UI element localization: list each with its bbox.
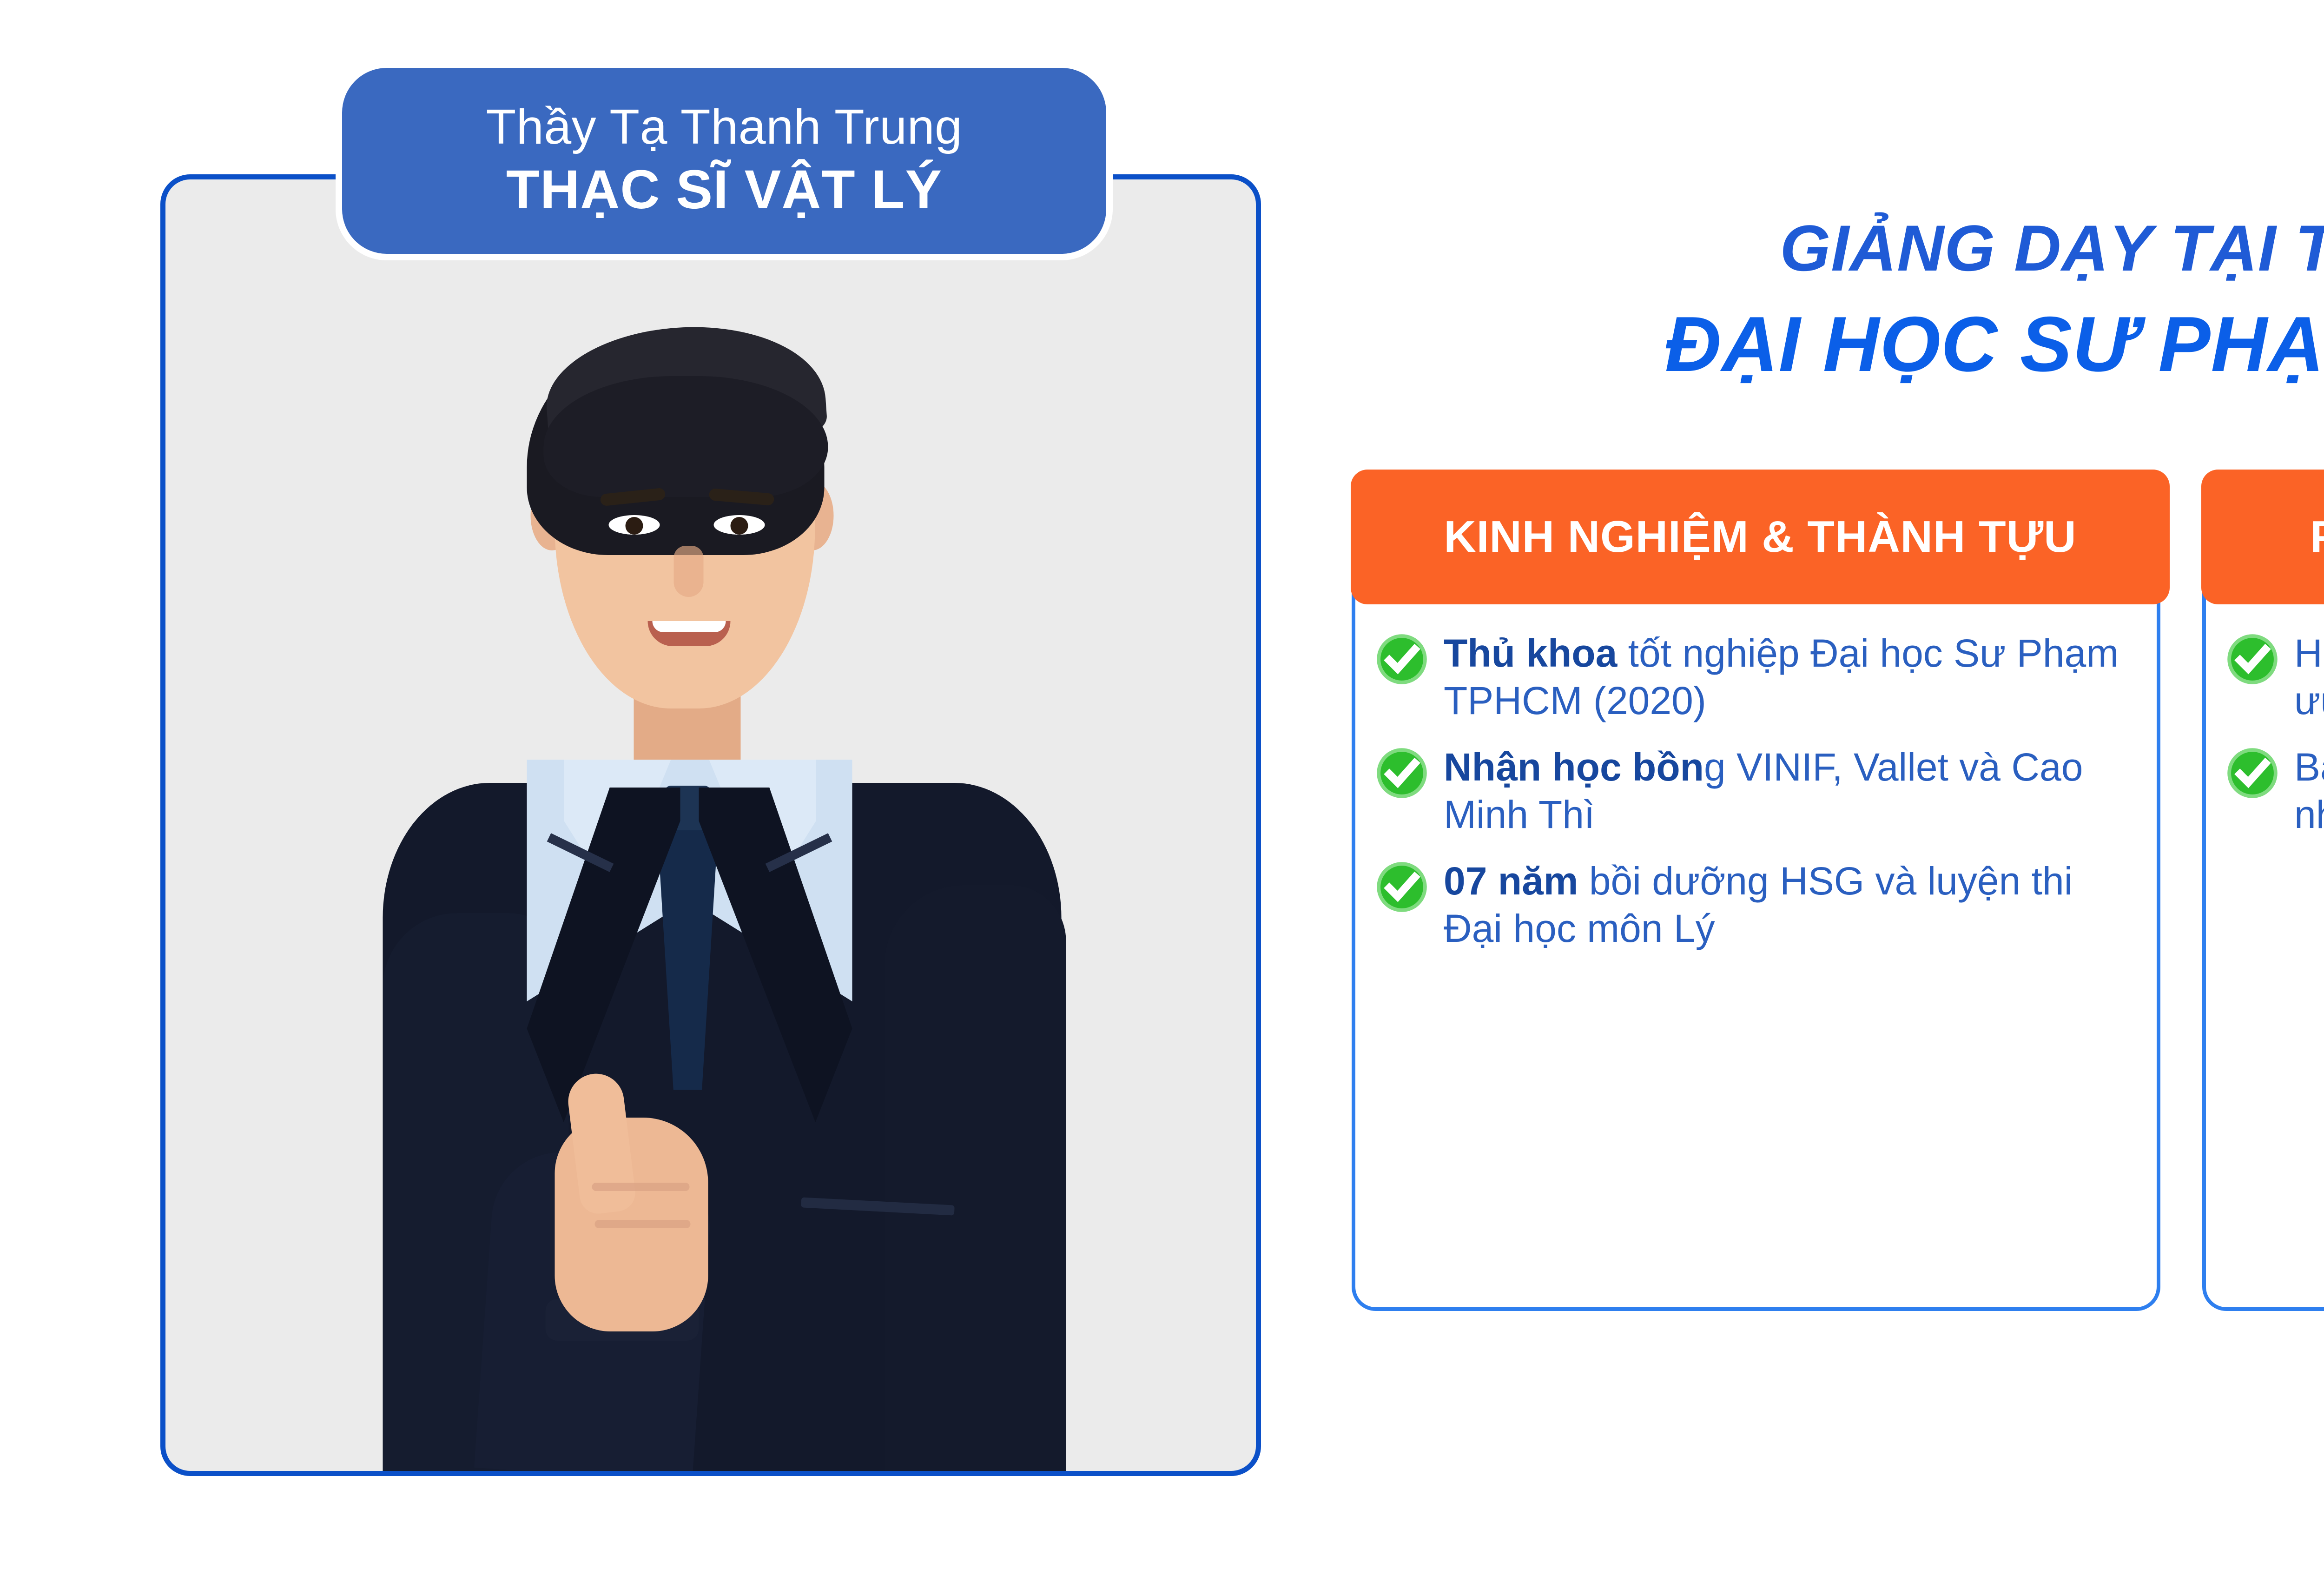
card-experience: KINH NGHIỆM & THÀNH TỰU Thủ khoa tốt ngh… — [1352, 470, 2160, 1311]
list-item-bold: 07 năm — [1444, 859, 1578, 903]
check-circle-icon — [1376, 861, 1428, 913]
teacher-degree: THẠC SĨ VẬT LÝ — [506, 159, 942, 222]
list-item-rest: Bám sát cấu trúc thi, rèn kỹ năng xử lý … — [2294, 745, 2324, 836]
list-item-text: Bám sát cấu trúc thi, rèn kỹ năng xử lý … — [2294, 743, 2324, 839]
list-item: Hiểu sâu nguyên lý, từ đó rút gọn và tối… — [2226, 629, 2324, 725]
list-item-text: Nhận học bồng VINIF, Vallet và Cao Minh … — [1444, 743, 2135, 839]
list-item-rest: Hiểu sâu nguyên lý, từ đó rút gọn và tối… — [2294, 631, 2324, 722]
check-circle-icon — [2226, 633, 2278, 685]
list-item-text: Thủ khoa tốt nghiệp Đại học Sư Phạm TPHC… — [1444, 629, 2135, 725]
poster-root: Thầy Tạ Thanh Trung THẠC SĨ VẬT LÝ GIẢNG… — [0, 0, 2324, 1569]
list-item: Bám sát cấu trúc thi, rèn kỹ năng xử lý … — [2226, 743, 2324, 839]
teacher-name: Thầy Tạ Thanh Trung — [486, 100, 963, 154]
list-item-text: Hiểu sâu nguyên lý, từ đó rút gọn và tối… — [2294, 629, 2324, 725]
list-item: 07 năm bồi dưỡng HSG và luyện thi Đại họ… — [1376, 857, 2135, 953]
check-circle-icon — [2226, 747, 2278, 799]
list-item-text: 07 năm bồi dưỡng HSG và luyện thi Đại họ… — [1444, 857, 2135, 953]
list-item: Thủ khoa tốt nghiệp Đại học Sư Phạm TPHC… — [1376, 629, 2135, 725]
title-line-2: ĐẠI HỌC SƯ PHẠM TP.HCM — [1348, 298, 2324, 391]
teacher-photo — [267, 327, 1173, 1471]
card-experience-header: KINH NGHIỆM & THÀNH TỰU — [1351, 470, 2170, 604]
right-column: GIẢNG DẠY TẠI TRƯỜNG ĐẠI HỌC SƯ PHẠM TP.… — [1348, 0, 2324, 1569]
title-line-1: GIẢNG DẠY TẠI TRƯỜNG — [1348, 209, 2324, 287]
list-item-bold: Nhận học bồn — [1444, 745, 1704, 789]
list-item: Nhận học bồng VINIF, Vallet và Cao Minh … — [1376, 743, 2135, 839]
card-method-list: Hiểu sâu nguyên lý, từ đó rút gọn và tối… — [2206, 613, 2324, 839]
card-method-header: PHƯƠNG PHÁP GIẢNG DẠY — [2201, 470, 2324, 604]
card-experience-list: Thủ khoa tốt nghiệp Đại học Sư Phạm TPHC… — [1355, 613, 2157, 953]
teacher-name-badge: Thầy Tạ Thanh Trung THẠC SĨ VẬT LÝ — [336, 61, 1113, 260]
check-circle-icon — [1376, 747, 1428, 799]
card-method: PHƯƠNG PHÁP GIẢNG DẠY Hiểu sâu nguyên lý… — [2202, 470, 2324, 1311]
portrait-frame — [160, 174, 1261, 1476]
page-title: GIẢNG DẠY TẠI TRƯỜNG ĐẠI HỌC SƯ PHẠM TP.… — [1348, 209, 2324, 391]
check-circle-icon — [1376, 633, 1428, 685]
list-item-bold: Thủ khoa — [1444, 631, 1617, 675]
